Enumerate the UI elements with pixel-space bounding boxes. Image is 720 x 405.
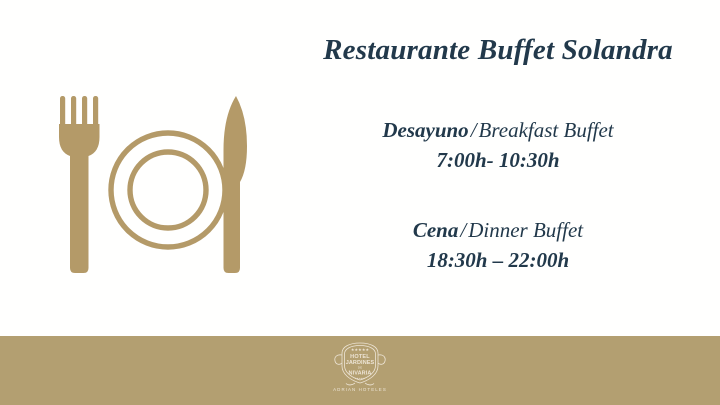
hotel-crest-icon: ★★★★★ HOTEL JARDINES DE NIVARIA ●●●●● <box>327 340 393 386</box>
meal-alt-name-dinner: Dinner Buffet <box>468 218 583 242</box>
meal-hours-breakfast: 7:00h- 10:30h <box>278 147 718 175</box>
fork-icon <box>59 96 100 273</box>
meal-separator-breakfast: / <box>469 118 479 142</box>
meal-title-dinner: Cena/Dinner Buffet <box>278 217 718 245</box>
meal-name-breakfast: Desayuno <box>382 118 468 142</box>
crest-line-sub: ●●●●● <box>355 377 365 380</box>
meal-item-dinner: Cena/Dinner Buffet 18:30h – 22:00h <box>278 217 718 274</box>
brand-tagline: ADRIAN HOTELES <box>327 387 393 392</box>
footer-band: ★★★★★ HOTEL JARDINES DE NIVARIA ●●●●● AD… <box>0 336 720 405</box>
crest-line-1: HOTEL <box>350 354 370 360</box>
knife-icon <box>224 96 248 273</box>
poster-content: Restaurante Buffet Solandra Desayuno/Bre… <box>278 34 718 274</box>
crest-line-3: DE <box>358 366 363 370</box>
meal-alt-name-breakfast: Breakfast Buffet <box>479 118 614 142</box>
page-title: Restaurante Buffet Solandra <box>278 34 718 67</box>
restaurant-buffet-poster: Restaurante Buffet Solandra Desayuno/Bre… <box>0 0 720 405</box>
cutlery-illustration <box>50 90 262 280</box>
crest-line-4: NIVARIA <box>349 371 372 377</box>
meal-schedule-list: Desayuno/Breakfast Buffet 7:00h- 10:30h … <box>278 117 718 274</box>
meal-name-dinner: Cena <box>413 218 459 242</box>
hotel-brand-logo: ★★★★★ HOTEL JARDINES DE NIVARIA ●●●●● AD… <box>327 340 393 402</box>
meal-item-breakfast: Desayuno/Breakfast Buffet 7:00h- 10:30h <box>278 117 718 174</box>
meal-hours-dinner: 18:30h – 22:00h <box>278 247 718 275</box>
plate-icon <box>111 133 225 247</box>
crest-line-stars: ★★★★★ <box>351 348 370 352</box>
meal-title-breakfast: Desayuno/Breakfast Buffet <box>278 117 718 145</box>
meal-separator-dinner: / <box>458 218 468 242</box>
